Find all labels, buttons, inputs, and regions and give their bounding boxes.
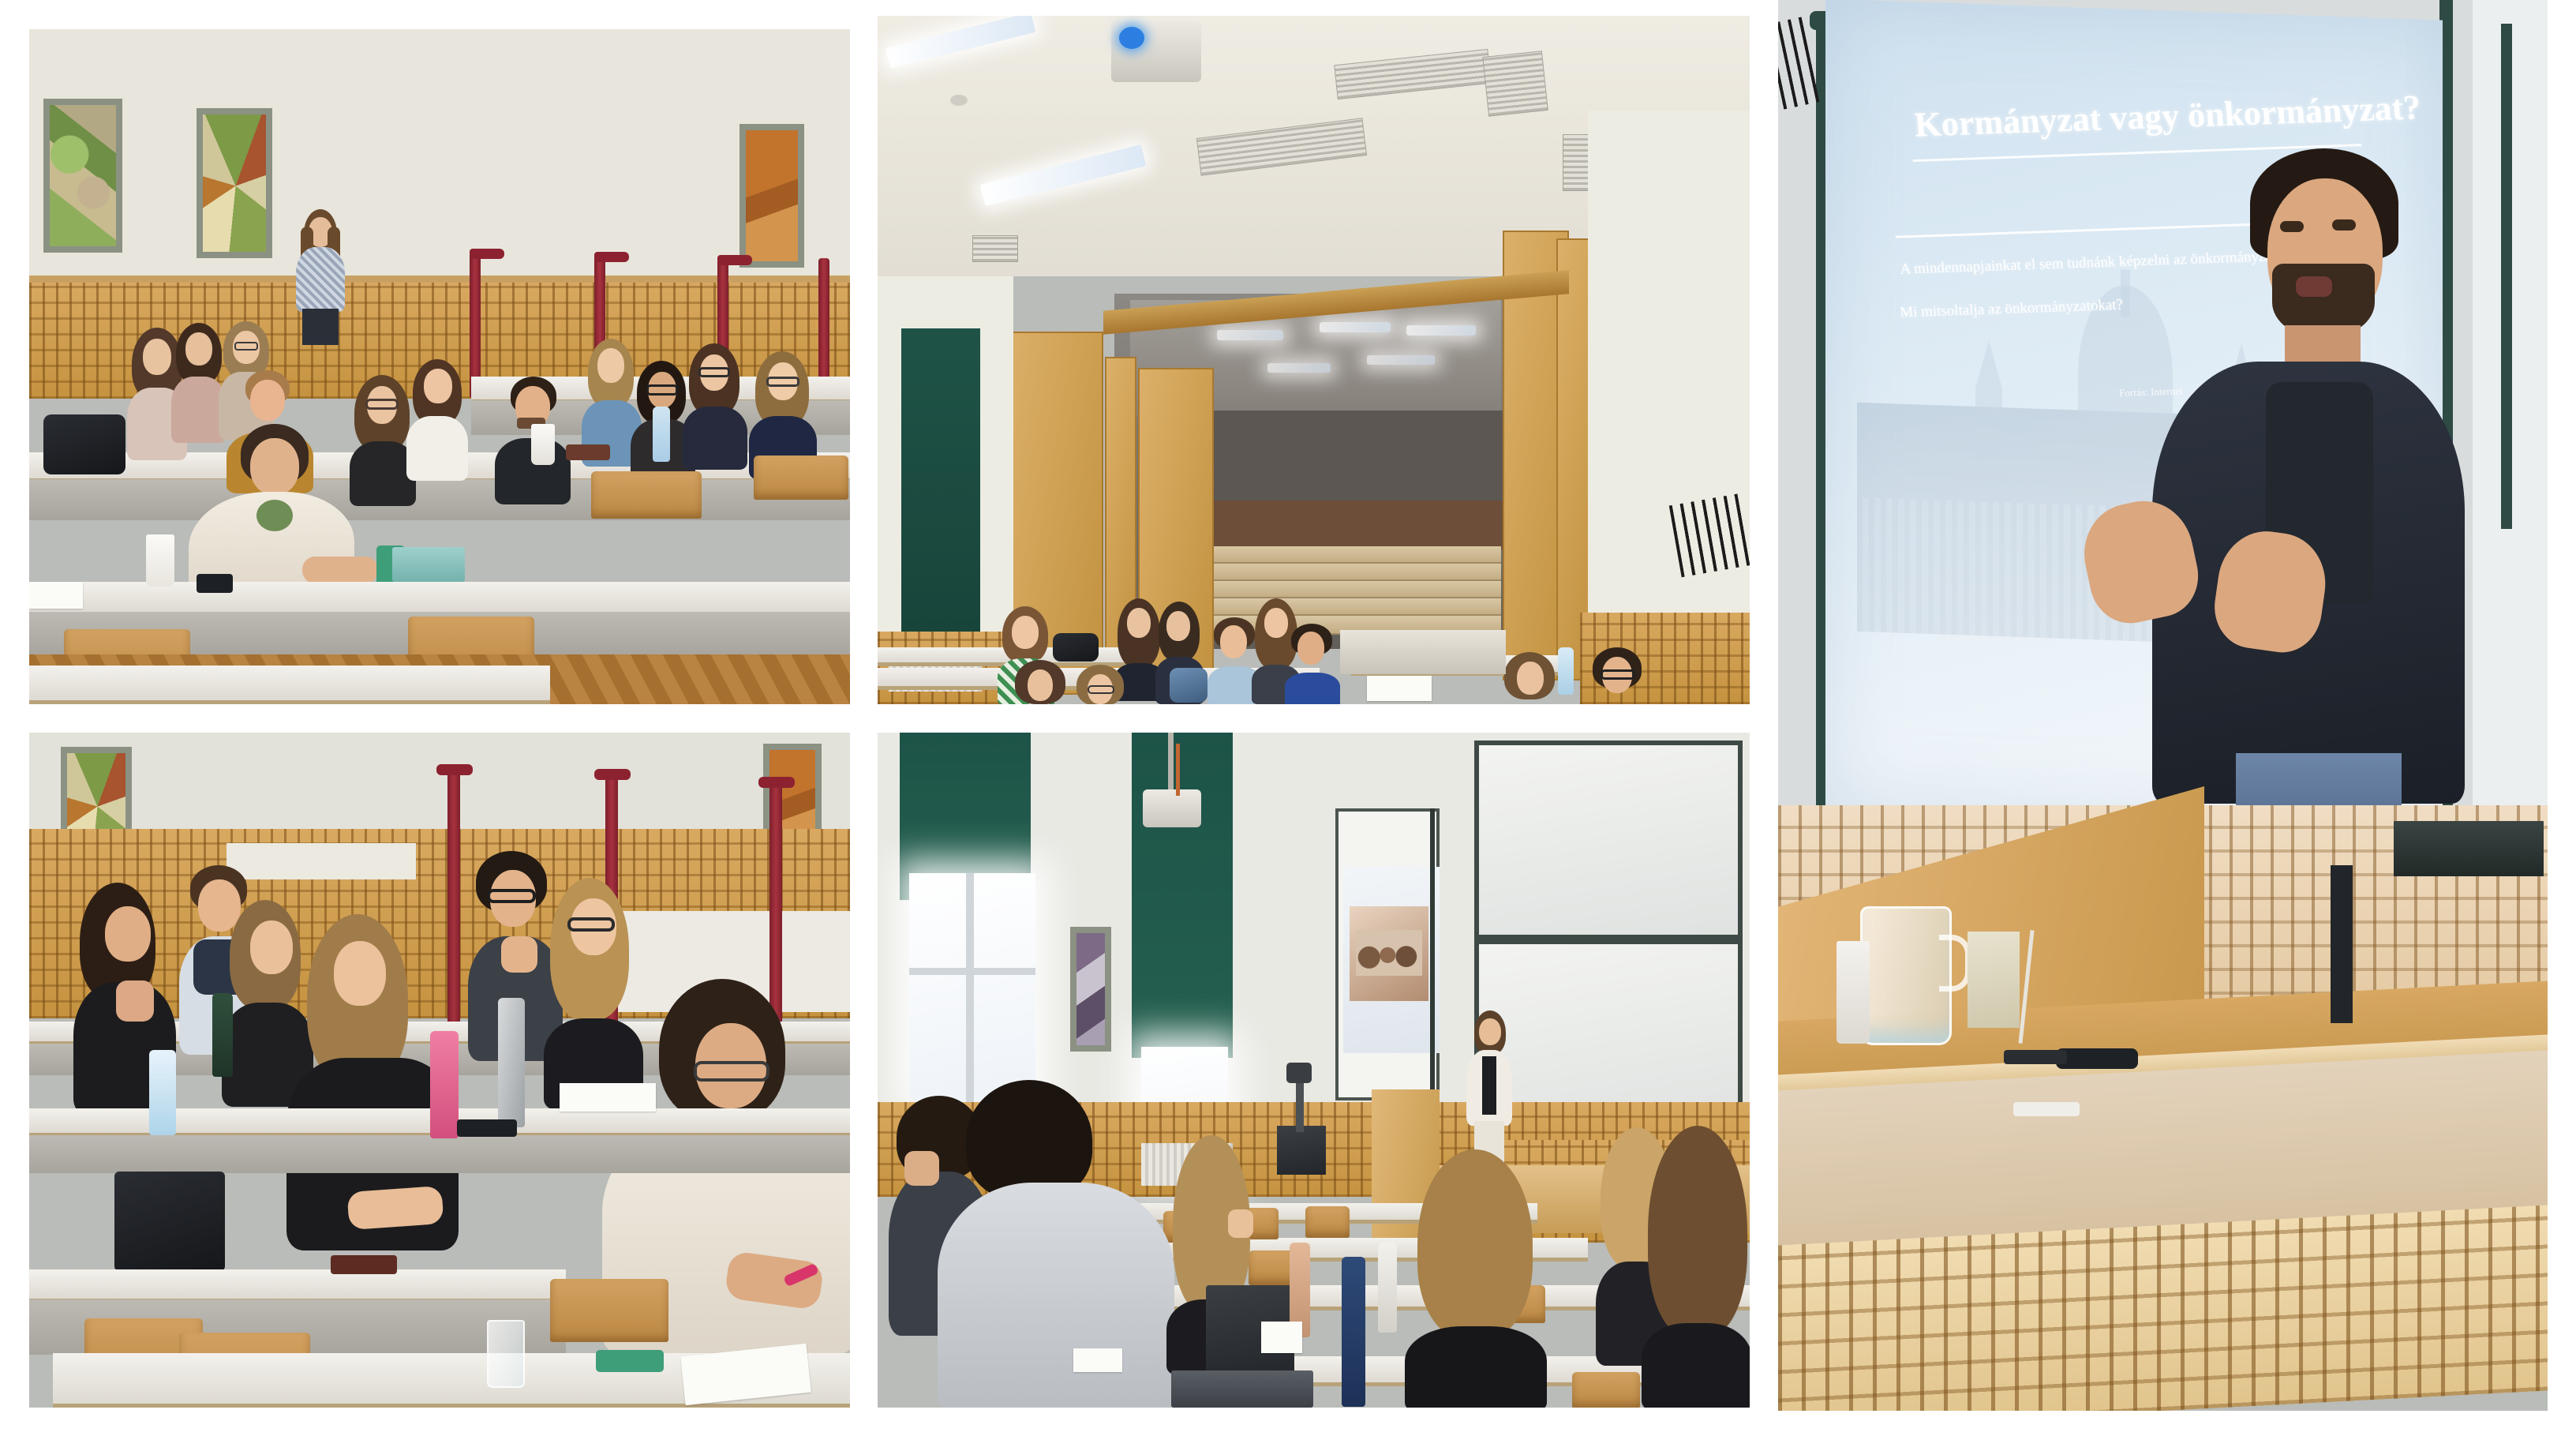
head: [185, 332, 212, 366]
rear-light-5: [1367, 355, 1435, 365]
water-bottle: [653, 407, 670, 462]
teal-notebook: [392, 547, 465, 582]
mouth: [2296, 276, 2332, 297]
chair-4: [754, 456, 848, 500]
speaker-man: [2117, 148, 2465, 796]
top: [683, 407, 747, 470]
hanging-projector: [1143, 789, 1201, 827]
head: [143, 339, 171, 375]
eyeglasses: [698, 367, 730, 377]
smoke-detector: [950, 95, 968, 106]
panel-bottom-center: [878, 733, 1750, 1408]
small-box-on-desk: [331, 1255, 397, 1274]
hand: [1228, 1209, 1253, 1238]
top: [1642, 1323, 1750, 1408]
speaker-head: [1286, 1063, 1312, 1083]
arm: [302, 557, 378, 583]
projector-cable: [1176, 744, 1180, 796]
face-profile: [904, 1151, 939, 1186]
head: [1220, 625, 1247, 658]
head: [1028, 669, 1053, 701]
blue-shirt: [1285, 673, 1340, 704]
glass-cup-front: [146, 534, 174, 587]
water-pitcher: [1860, 906, 1952, 1045]
desk-front-main: [29, 1269, 566, 1303]
tc-student-8: [1073, 665, 1130, 704]
tier-chair-4: [1305, 1206, 1350, 1238]
notebook-on-desk: [1261, 1322, 1302, 1353]
photo-collage: Kormányzat vagy önkormányzat? A mindenna…: [0, 0, 2576, 1436]
parliament-spire-left: [1975, 340, 2002, 459]
dark-equipment-right: [2394, 821, 2544, 876]
head: [597, 348, 624, 383]
head: [334, 941, 386, 1006]
desk-row-frontmost: [29, 666, 550, 704]
bottle-blue: [1342, 1257, 1365, 1407]
ceiling-projector: [1111, 21, 1201, 82]
head: [105, 906, 151, 962]
tc-student-10: [1588, 647, 1651, 704]
water-bottle-clear: [149, 1050, 176, 1135]
drinking-glass: [487, 1320, 525, 1388]
green-marker: [596, 1350, 664, 1372]
black-backpack: [43, 414, 125, 474]
rear-tier-2: [1196, 564, 1501, 581]
rear-wainscot: [1193, 501, 1509, 549]
student-6: [405, 359, 471, 478]
artwork-green: [43, 99, 122, 253]
hair: [1417, 1149, 1533, 1339]
head: [1517, 662, 1544, 695]
eyeglasses: [365, 399, 399, 410]
remote-control: [2004, 1050, 2067, 1064]
panel-top-center: [878, 16, 1750, 704]
panel-bottom-left: [29, 733, 850, 1408]
light-grey-shirt: [938, 1183, 1174, 1408]
eyeglasses: [567, 917, 615, 932]
black-top: [1405, 1326, 1547, 1408]
rear-tier-4: [1187, 598, 1501, 616]
eyeglasses: [487, 889, 536, 903]
projection-screen-image: [1343, 867, 1440, 1053]
tier-chair-8: [1572, 1372, 1640, 1408]
head: [1479, 1018, 1501, 1045]
handrail-arm-3: [717, 255, 752, 265]
head: [1297, 632, 1324, 665]
head: [424, 369, 452, 403]
student-10: [683, 343, 749, 470]
papers-front: [29, 582, 83, 609]
slide-photo-people: [1356, 930, 1422, 976]
artwork-swirl: [197, 108, 272, 258]
window-1-mullion-v: [966, 873, 974, 1102]
hand-on-chin: [501, 936, 537, 973]
eyeglasses: [1601, 669, 1635, 680]
head: [250, 438, 299, 495]
scene-audience-toward-presenter: [878, 733, 1750, 1408]
panel-top-left: [29, 29, 850, 704]
bottle-pink: [430, 1031, 459, 1138]
head: [1127, 608, 1151, 638]
hand-on-chin: [116, 980, 154, 1022]
head: [1166, 611, 1190, 641]
chair-3: [591, 471, 702, 519]
phone-on-desk: [566, 444, 610, 460]
projector-mount-rod: [1168, 733, 1174, 794]
artwork-purple: [1070, 927, 1111, 1052]
pitcher-handle: [1939, 935, 1971, 992]
desk-mid-front: [29, 1135, 850, 1173]
bc-audience-4: [1405, 1149, 1547, 1408]
artwork-orange: [739, 124, 804, 268]
handrail-arm-3: [758, 777, 795, 788]
window-1-mullion-h: [909, 968, 1035, 975]
papers-left: [1073, 1348, 1122, 1372]
head: [250, 380, 285, 421]
chair-c: [550, 1279, 668, 1342]
rear-light-3: [1406, 325, 1476, 336]
papers-right: [560, 1083, 656, 1112]
top: [406, 416, 468, 481]
panel-right-speaker: Kormányzat vagy önkormányzat? A mindenna…: [1778, 0, 2548, 1411]
phone-front-desk: [197, 574, 233, 593]
whiteboard-upper: [1474, 740, 1743, 939]
shoulder-bag: [114, 1172, 225, 1271]
phone-1: [457, 1119, 517, 1137]
rear-desk-cluster: [1340, 630, 1506, 674]
coat-hook-rack: [1669, 493, 1750, 578]
rear-light-2: [1320, 322, 1391, 332]
scene-lecture-hall-partition: [878, 16, 1750, 704]
eyeglasses-on-desk: [2056, 1048, 2138, 1069]
scene-seminar-room-students: [29, 29, 850, 704]
monitor-edge: [2331, 865, 2353, 1023]
bottle-steel: [498, 998, 525, 1127]
handrail-arm-2: [594, 252, 629, 262]
bottle-right: [1558, 647, 1574, 695]
scene-speaker-presenting: Kormányzat vagy önkormányzat? A mindenna…: [1778, 0, 2548, 1411]
rear-light-4: [1267, 363, 1331, 373]
bc-audience-2-foreground: [938, 1080, 1174, 1408]
laptop-base: [1171, 1370, 1313, 1408]
desk-row-middle-front: [29, 479, 850, 520]
person-standing-instructor: [290, 209, 350, 343]
inner-top: [1482, 1056, 1496, 1115]
blouse: [296, 247, 345, 312]
eye-left: [2280, 221, 2304, 232]
rear-tier-1: [1201, 546, 1501, 564]
ceiling-vent-3: [1482, 51, 1548, 117]
eyeglasses: [1088, 685, 1114, 694]
plastic-cup-stack: [1837, 941, 1870, 1044]
tc-student-6: [1285, 624, 1342, 704]
tc-student-9: [1501, 652, 1561, 704]
hand-2: [346, 1186, 444, 1230]
roller-blind-2: [1132, 733, 1233, 1058]
bc-audience-6: [1642, 1126, 1750, 1408]
eye-right: [2332, 219, 2356, 231]
rear-light-1: [1217, 330, 1283, 340]
bottle-dark-green: [212, 993, 233, 1077]
white-cup: [531, 424, 555, 465]
projector-lens: [1119, 27, 1144, 49]
eyeglasses: [694, 1061, 769, 1082]
handrail-arm-2: [594, 769, 631, 780]
scene-students-listening: [29, 733, 850, 1408]
bag-blue: [1170, 668, 1207, 703]
tc-student-7: [1012, 660, 1072, 704]
folder-card: [1968, 932, 2020, 1028]
head: [1012, 616, 1039, 649]
handrail-arm-1: [470, 249, 504, 259]
bottle-white: [1378, 1243, 1397, 1333]
speaker-box: [1277, 1126, 1326, 1175]
trousers: [302, 309, 339, 345]
hair: [1648, 1126, 1747, 1337]
small-white-device: [2013, 1102, 2080, 1116]
window-frame-far-right: [2501, 24, 2512, 529]
screen-pull-cord: [1430, 808, 1435, 1100]
eyeglasses: [234, 342, 258, 351]
papers-on-desk: [1367, 676, 1432, 701]
eyeglasses: [646, 384, 678, 396]
handrail-arm-1: [436, 764, 473, 775]
eyeglasses: [766, 377, 799, 387]
bag-on-desk: [1053, 633, 1099, 662]
slide-title: Kormányzat vagy önkormányzat?: [1913, 87, 2422, 144]
presenter-woman: [1465, 1010, 1514, 1168]
necklace: [256, 500, 293, 531]
rear-tier-3: [1192, 581, 1501, 598]
wall-vent-left: [972, 235, 1018, 262]
